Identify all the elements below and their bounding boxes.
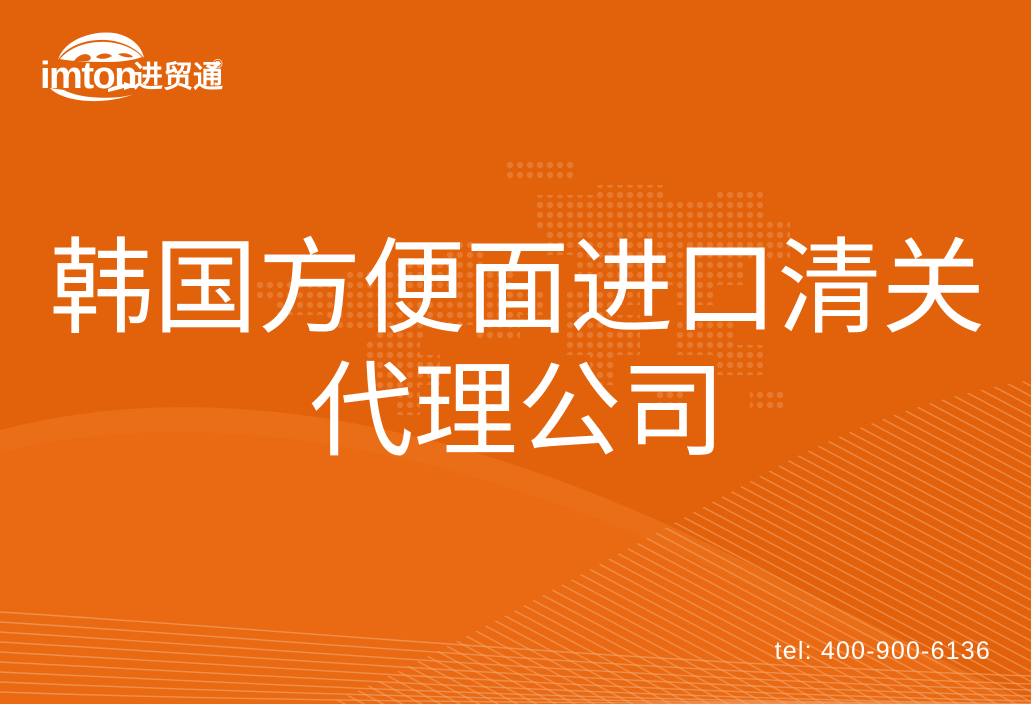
headline-line-2: 代理公司 bbox=[0, 351, 1031, 474]
page-title: 韩国方便面进口清关 代理公司 bbox=[0, 228, 1031, 473]
registered-trademark-icon: ® bbox=[213, 56, 223, 71]
headline-line-1: 韩国方便面进口清关 bbox=[0, 228, 1031, 351]
logo-chinese-name: 进贸通 bbox=[133, 61, 223, 94]
contact-phone[interactable]: tel: 400-900-6136 bbox=[775, 637, 991, 666]
company-logo[interactable]: imton 进贸通 ® bbox=[38, 30, 228, 102]
promo-banner: imton 进贸通 ® 韩国方便面进口清关 代理公司 tel: 400-900-… bbox=[0, 0, 1031, 704]
